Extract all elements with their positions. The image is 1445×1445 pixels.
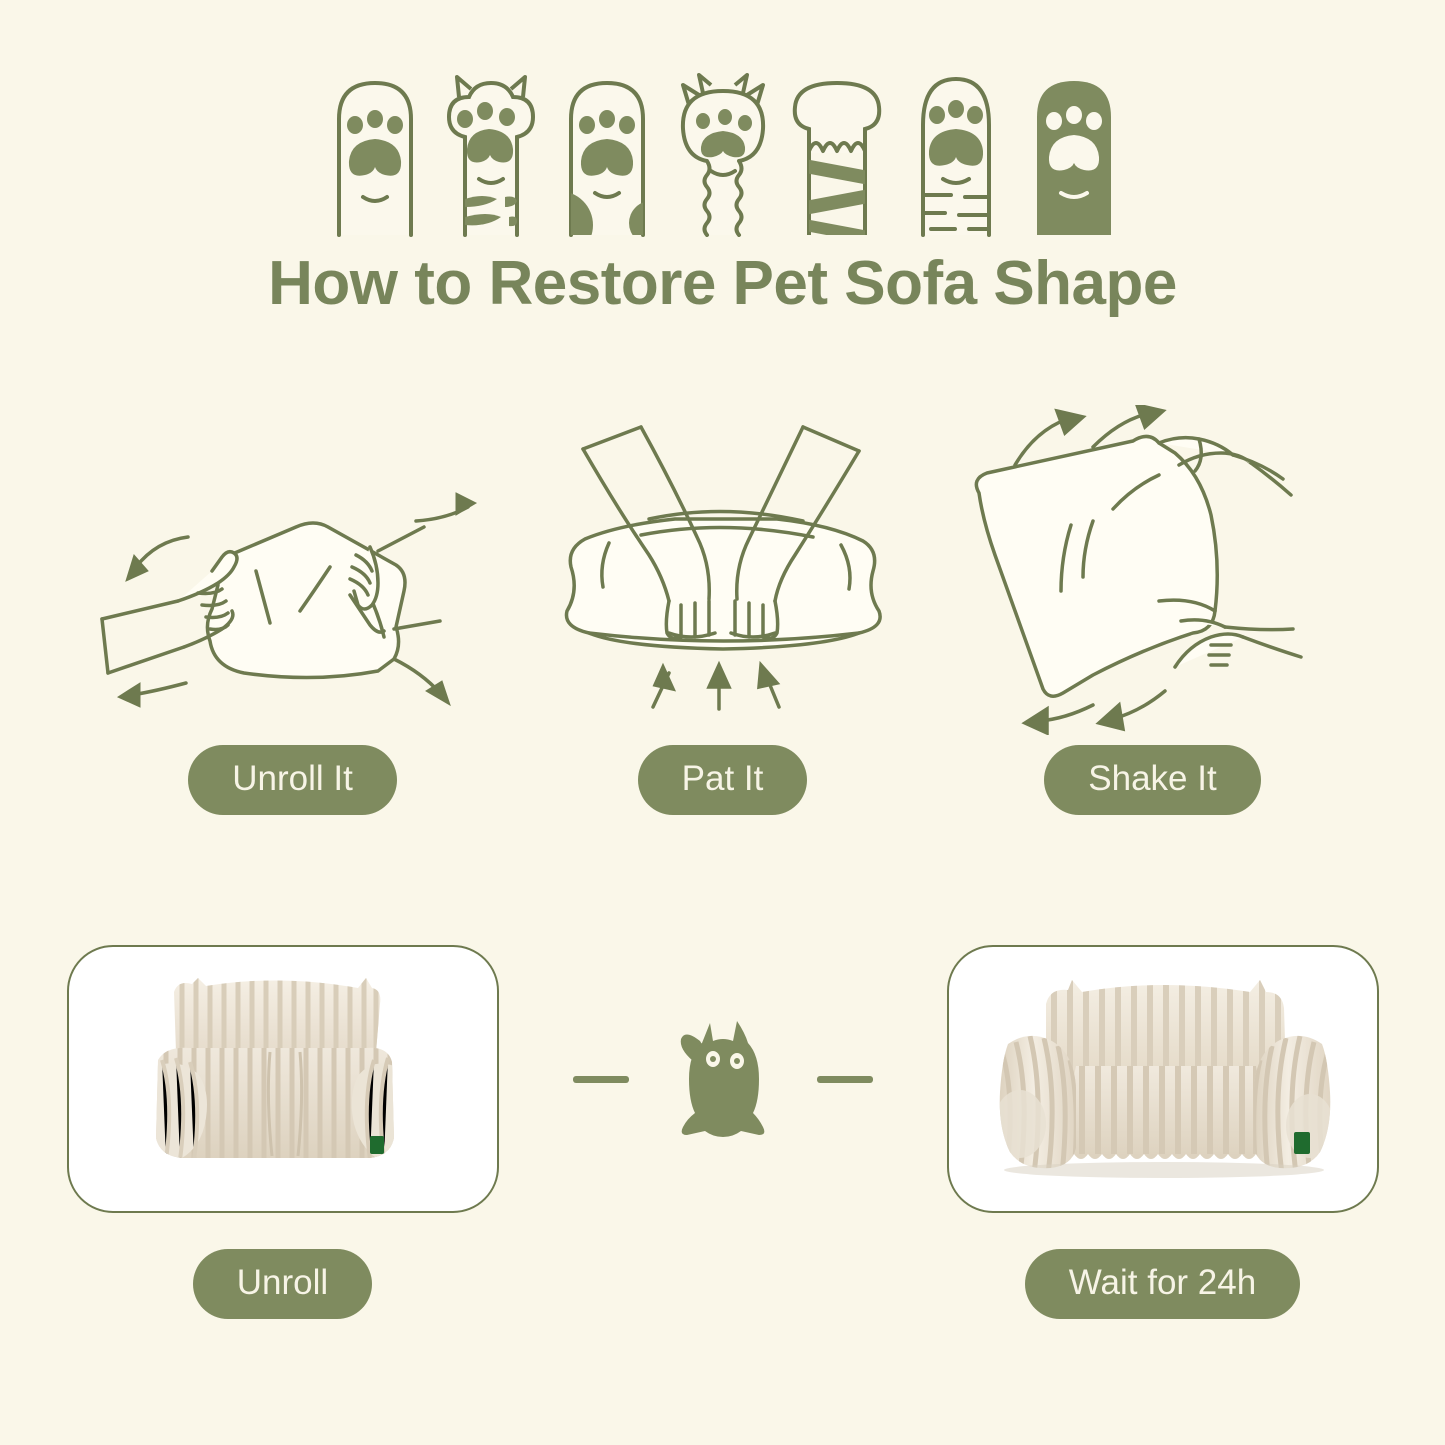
paws-decoration-row [0, 62, 1445, 237]
photo-card-restored-sofa [947, 945, 1379, 1213]
steps-row: Unroll It [0, 405, 1445, 845]
shake-illustration [943, 405, 1363, 735]
arrow-down-left [118, 683, 186, 707]
brand-tag [370, 1136, 384, 1154]
arrow-up-1 [653, 667, 673, 707]
paw-solid-icon [1021, 67, 1127, 237]
paw-patched-icon [551, 67, 663, 237]
step-shake-it: Shake It [938, 405, 1368, 815]
arrow-up-3 [759, 665, 779, 707]
paw-furry-thin-icon [667, 67, 779, 237]
comparison-label-unroll: Unroll [193, 1249, 372, 1319]
step-label-shake-it: Shake It [1044, 745, 1260, 815]
brand-tag [1294, 1132, 1310, 1154]
comparison-before: Unroll [58, 945, 508, 1319]
paw-wide-dashed-icon [895, 67, 1017, 237]
divider-dash-left [573, 1076, 629, 1083]
unroll-illustration [78, 405, 508, 735]
step-unroll-it: Unroll It [78, 405, 508, 815]
paw-scalloped-zigzag-icon [783, 67, 891, 237]
paw-tufted-striped-icon [435, 67, 547, 237]
divider-dash-right [817, 1076, 873, 1083]
arrow-up-2 [709, 665, 729, 709]
infographic-page: How to Restore Pet Sofa Shape [0, 0, 1445, 1445]
arrow-up-right [416, 493, 476, 521]
photo-card-rolled-sofa [67, 945, 499, 1213]
comparison-divider [508, 945, 938, 1213]
arrow-bottom-right [1099, 691, 1165, 729]
arrow-down-right [394, 659, 450, 705]
arrow-up-left [126, 537, 188, 581]
step-label-unroll-it: Unroll It [188, 745, 397, 815]
step-label-pat-it: Pat It [638, 745, 808, 815]
page-title: How to Restore Pet Sofa Shape [0, 248, 1445, 319]
cat-silhouette-icon [655, 1009, 791, 1149]
paw-plain-icon [319, 67, 431, 237]
comparison-after: Wait for 24h [938, 945, 1388, 1319]
comparison-label-wait-24h: Wait for 24h [1025, 1249, 1300, 1319]
comparison-row: Unroll [0, 945, 1445, 1325]
pat-illustration [523, 405, 923, 735]
arrow-bottom-left [1025, 705, 1093, 733]
step-pat-it: Pat It [508, 405, 938, 815]
